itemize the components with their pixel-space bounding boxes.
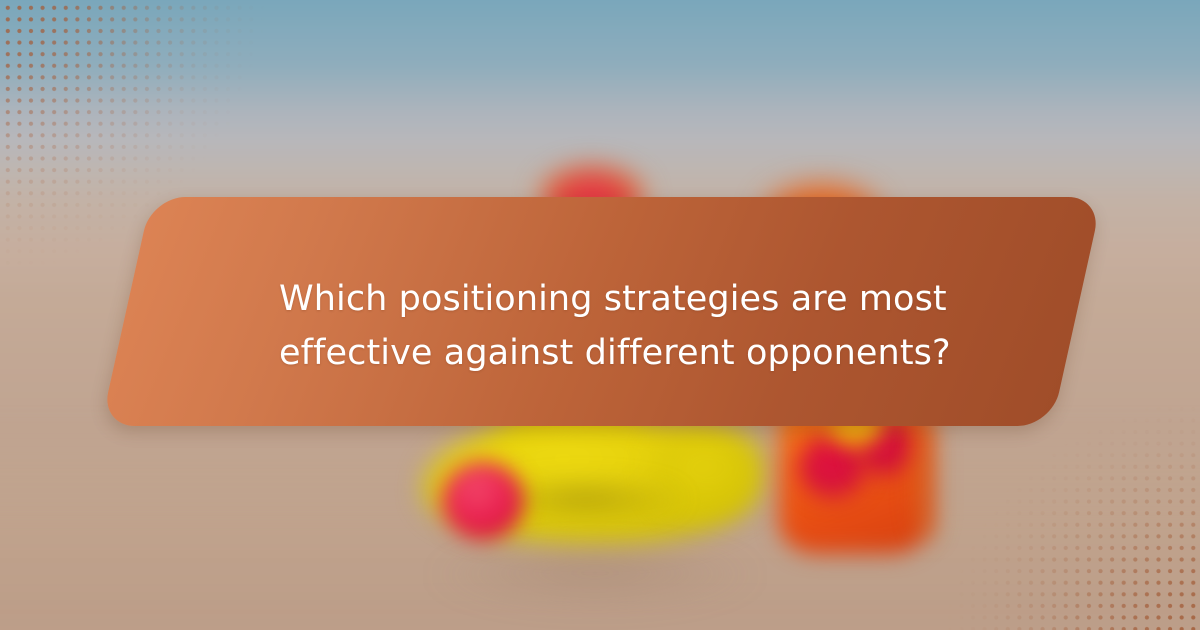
question-text: Which positioning strategies are most ef… [279,272,979,380]
question-card: Which positioning strategies are most ef… [0,0,1200,630]
question-card-canvas: Which positioning strategies are most ef… [0,0,1200,630]
